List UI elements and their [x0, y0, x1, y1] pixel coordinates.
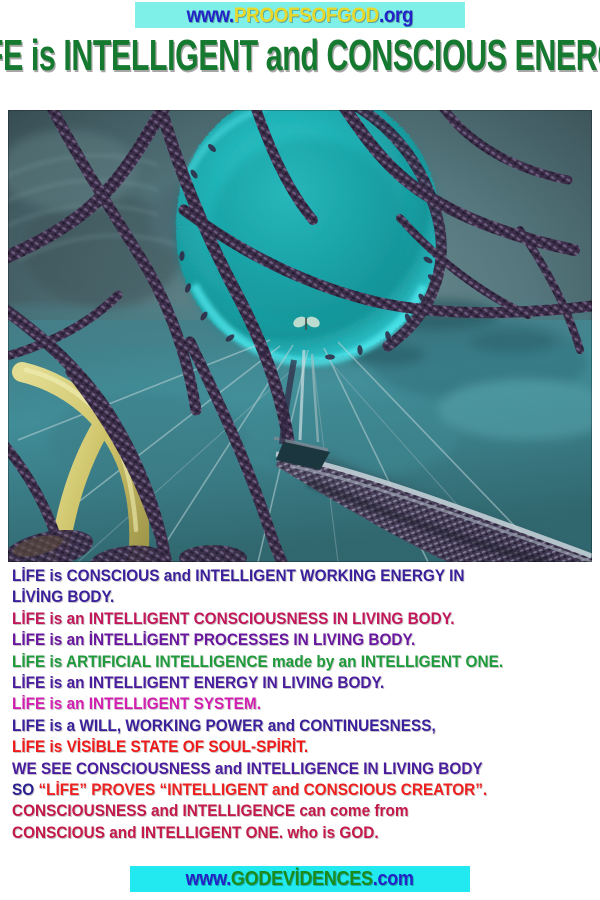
headline-region: LİFE is INTELLIGENT and CONSCIOUS ENERGY: [0, 30, 600, 80]
statement-line: CONSCIOUSNESS and INTELLIGENCE can come …: [12, 801, 559, 822]
statement-line: LİFE is an İNTELLİGENT PROCESSES IN LIVI…: [12, 630, 559, 651]
proofsofgod-url-banner[interactable]: www.PROOFSOFGOD.org: [135, 2, 465, 28]
url-domain: PROOFSOFGOD: [234, 4, 379, 27]
url-prefix: www.: [186, 868, 231, 890]
page-title: LİFE is INTELLIGENT and CONSCIOUS ENERGY: [0, 33, 600, 77]
statement-line: LİFE is CONSCIOUS and INTELLIGENT WORKIN…: [12, 566, 559, 587]
statement-segment: “LİFE” PROVES “INTELLIGENT and CONSCIOUS…: [38, 781, 487, 799]
url-prefix: www.: [187, 4, 234, 27]
statement-line: LİVİNG BODY.: [12, 587, 559, 608]
statement-line: LİFE is an INTELLIGENT ENERGY IN LIVING …: [12, 673, 559, 694]
godevidences-url-banner[interactable]: www.GODEVİDENCES.com: [130, 866, 470, 892]
url-suffix: .com: [373, 868, 414, 890]
proofsofgod-url-text: www.PROOFSOFGOD.org: [187, 5, 414, 26]
url-suffix: .org: [379, 4, 413, 27]
statement-segment: SO: [12, 781, 38, 799]
statement-line: LİFE is ARTIFICIAL INTELLIGENCE made by …: [12, 652, 559, 673]
statement-line: WE SEE CONSCIOUSNESS and INTELLIGENCE IN…: [12, 759, 559, 780]
cell-illustration: [8, 110, 592, 562]
statement-line: LIFE is a WILL, WORKING POWER and CONTIN…: [12, 716, 559, 737]
top-banner-region: www.PROOFSOFGOD.org: [0, 0, 600, 30]
statement-line: CONSCIOUS and INTELLIGENT ONE. who is GO…: [12, 823, 559, 844]
godevidences-url-text: www.GODEVİDENCES.com: [186, 868, 414, 891]
statement-line: LİFE is VİSİBLE STATE OF SOUL-SPİRİT.: [12, 737, 559, 758]
statement-line: LİFE is an INTELLIGENT CONSCIOUSNESS IN …: [12, 609, 559, 630]
url-domain: GODEVİDENCES: [231, 868, 373, 890]
statement-list: LİFE is CONSCIOUS and INTELLIGENT WORKIN…: [0, 566, 600, 856]
statement-line: SO “LİFE” PROVES “INTELLIGENT and CONSCI…: [12, 780, 559, 801]
bottom-banner-region: www.GODEVİDENCES.com: [0, 866, 600, 896]
microscopic-cell-photo: [8, 110, 592, 562]
statement-line: LİFE is an INTELLIGENT SYSTEM.: [12, 694, 559, 715]
